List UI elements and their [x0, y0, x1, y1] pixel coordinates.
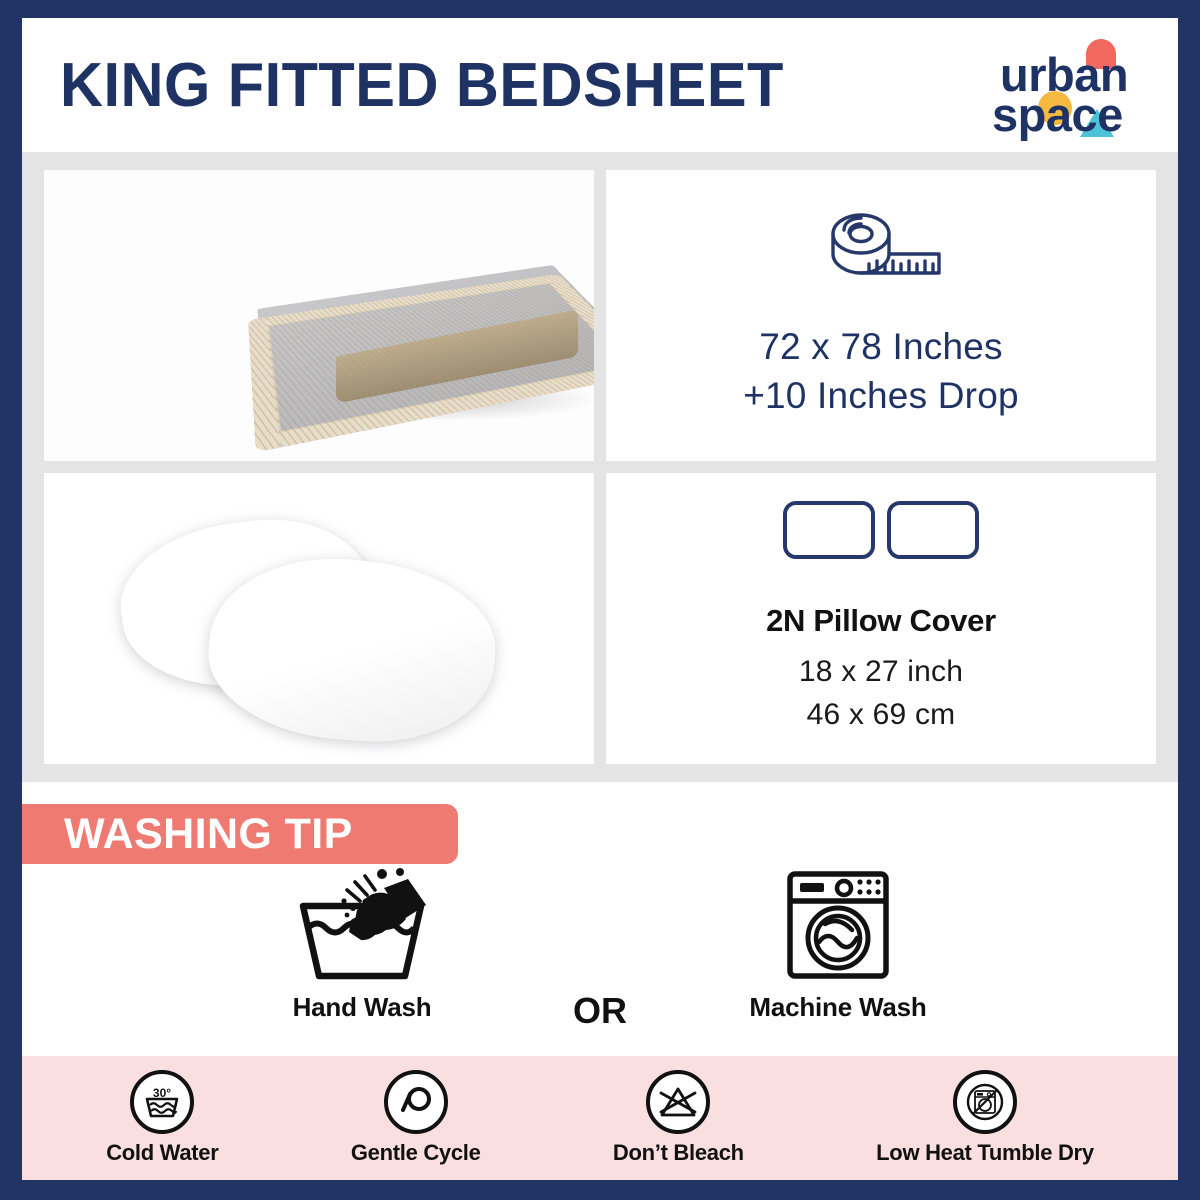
care-label-tumble-dry: Low Heat Tumble Dry	[876, 1140, 1094, 1166]
gentle-cycle-icon	[384, 1070, 448, 1134]
pillow-outline-right	[887, 501, 979, 559]
infographic-page: KING FITTED BEDSHEET urban space	[0, 0, 1200, 1200]
dimensions-panel: 72 x 78 Inches +10 Inches Drop	[606, 170, 1156, 461]
cold-water-30-icon: 30°	[130, 1070, 194, 1134]
dimension-line-1: 72 x 78 Inches	[759, 323, 1002, 372]
care-item-no-bleach: Don’t Bleach	[613, 1070, 744, 1166]
washing-tip-label: WASHING TIP	[64, 810, 353, 859]
care-item-cold-water: 30° Cold Water	[106, 1070, 218, 1166]
pillow-cover-panel: 2N Pillow Cover 18 x 27 inch 46 x 69 cm	[606, 473, 1156, 764]
pillow-outline-left	[783, 501, 875, 559]
washing-tip-banner: WASHING TIP	[22, 804, 458, 864]
pillow-front	[203, 551, 501, 751]
measuring-tape-icon	[813, 210, 949, 301]
wash-separator: OR	[573, 990, 627, 1054]
header: KING FITTED BEDSHEET urban space	[22, 18, 1178, 152]
care-instructions-footer: 30° Cold Water Gentle Cycle	[22, 1056, 1178, 1180]
washing-machine-icon	[778, 868, 898, 984]
care-label-cold-water: Cold Water	[106, 1140, 218, 1166]
dimension-line-2: +10 Inches Drop	[743, 372, 1019, 421]
two-pillow-outline-icon	[783, 501, 979, 559]
care-item-gentle-cycle: Gentle Cycle	[351, 1070, 481, 1166]
washing-tip-section: WASHING TIP	[22, 782, 1178, 1054]
fitted-sheet-band	[248, 274, 594, 452]
pillow-pair-photo	[44, 473, 594, 764]
machine-wash-label: Machine Wash	[749, 992, 926, 1023]
low-heat-tumble-dry-icon	[953, 1070, 1017, 1134]
pillow-cover-title: 2N Pillow Cover	[766, 603, 996, 639]
washing-options: Hand Wash OR Mac	[22, 864, 1178, 1054]
pillow-cover-size-inch: 18 x 27 inch	[799, 651, 963, 694]
page-title: KING FITTED BEDSHEET	[60, 50, 784, 121]
hand-wash-label: Hand Wash	[293, 992, 432, 1023]
bedsheet-photo-panel	[44, 170, 594, 461]
machine-wash-option: Machine Wash	[713, 868, 963, 1023]
no-bleach-icon	[646, 1070, 710, 1134]
bedsheet-corner-photo	[44, 170, 594, 461]
product-detail-grid: 72 x 78 Inches +10 Inches Drop 2N Pillow…	[22, 152, 1178, 782]
pillow-cover-size-cm: 46 x 69 cm	[807, 694, 956, 737]
care-item-tumble-dry: Low Heat Tumble Dry	[876, 1070, 1094, 1166]
hand-wash-option: Hand Wash	[237, 868, 487, 1023]
care-label-no-bleach: Don’t Bleach	[613, 1140, 744, 1166]
care-label-gentle-cycle: Gentle Cycle	[351, 1140, 481, 1166]
pillow-photo-panel	[44, 473, 594, 764]
brand-logo: urban space	[986, 31, 1164, 139]
hand-wash-icon	[287, 868, 437, 984]
logo-text-space: space	[992, 91, 1123, 138]
